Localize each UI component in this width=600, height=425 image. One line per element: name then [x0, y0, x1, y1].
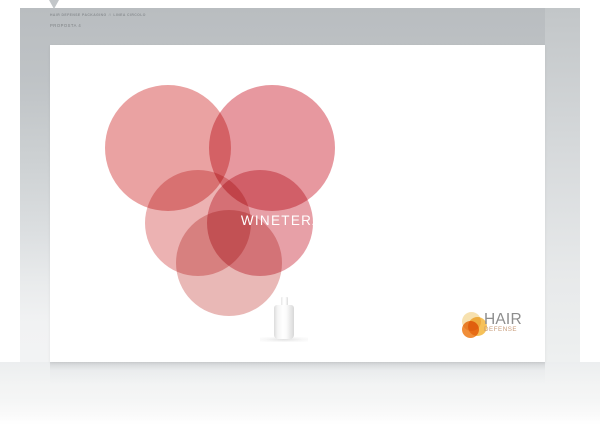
header-project: HAIR DEFENSE PACKAGING	[50, 13, 107, 17]
header-project-line: HAIR DEFENSE PACKAGING//LINEA CIRCOLO	[50, 12, 470, 18]
circle-top-right	[209, 85, 335, 211]
logo-secondary-text: DEFENSE	[484, 326, 540, 334]
hair-defense-logo: HAIR DEFENSE	[458, 308, 538, 344]
wineteraphy-wordmark: WINETERAPHY	[50, 213, 545, 228]
slide-canvas: WINETERAPHY HAIR DEFENSE	[50, 45, 545, 362]
product-bottle	[274, 297, 294, 339]
logo-primary-text: HAIR	[484, 312, 540, 327]
backdrop-floor-edge	[0, 398, 600, 425]
header-client: LINEA CIRCOLO	[113, 13, 145, 17]
circle-top-left	[105, 85, 231, 211]
slide-marker-notch-icon	[49, 0, 59, 9]
logo-circle-orange	[462, 321, 479, 338]
slide-reflection	[50, 362, 545, 396]
screenshot-stage: HAIR DEFENSE PACKAGING//LINEA CIRCOLO PR…	[0, 0, 600, 425]
header-proposal: PROPOSTA 4	[50, 22, 470, 29]
bottle-body	[274, 305, 294, 339]
logo-wordmark: HAIR DEFENSE	[484, 312, 540, 334]
slide-header: HAIR DEFENSE PACKAGING//LINEA CIRCOLO PR…	[50, 12, 470, 42]
backdrop-right-wash	[545, 8, 580, 362]
